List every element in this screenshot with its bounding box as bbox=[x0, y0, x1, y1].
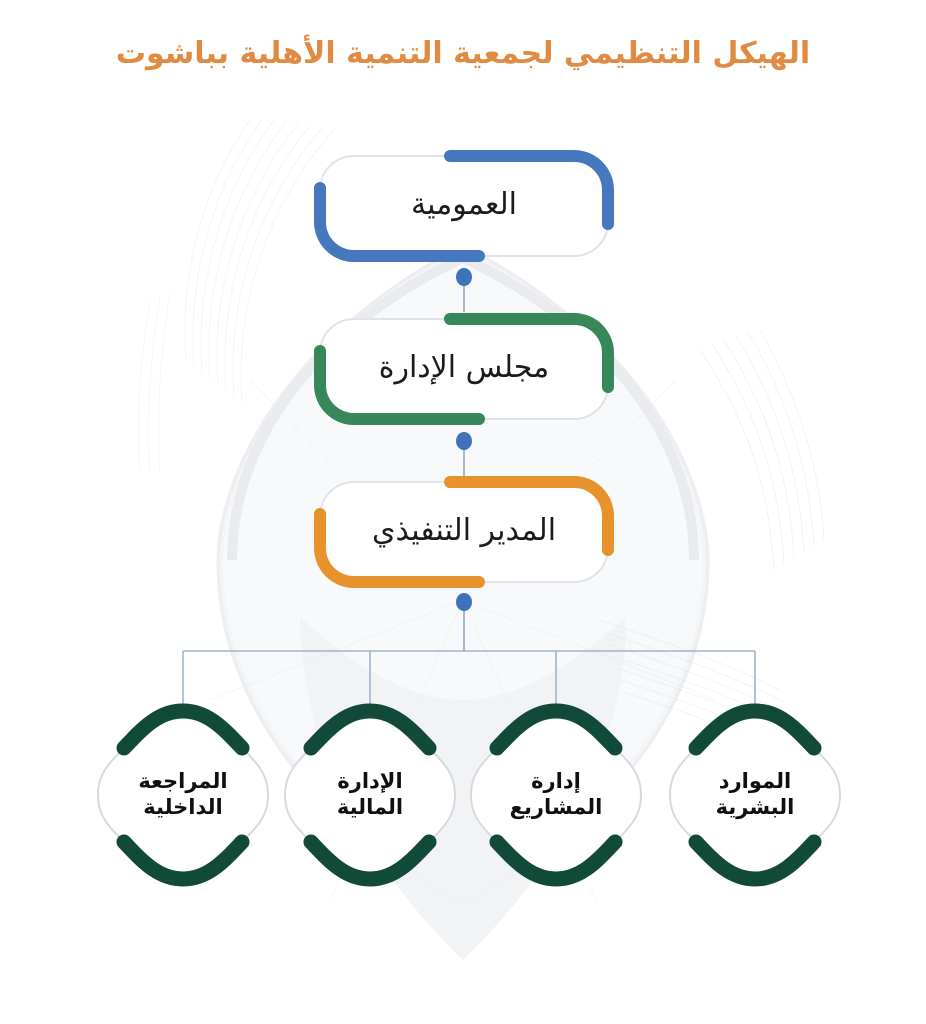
connector-board-to-director bbox=[456, 432, 472, 477]
human-resources-label-line1: الموارد bbox=[719, 769, 791, 793]
human-resources-label-line2: البشرية bbox=[716, 795, 795, 819]
internal-audit-label-line1: المراجعة bbox=[138, 769, 227, 793]
connector-assembly-to-board bbox=[456, 268, 472, 312]
financial-management-label-line1: الإدارة bbox=[337, 769, 402, 793]
human-resources-label: الموارد البشرية bbox=[692, 769, 818, 820]
node-human-resources[interactable]: الموارد البشرية bbox=[660, 700, 850, 890]
node-board-of-directors[interactable]: مجلس الإدارة bbox=[313, 313, 615, 425]
general-assembly-label: العمومية bbox=[411, 188, 517, 225]
node-financial-management[interactable]: الإدارة المالية bbox=[275, 700, 465, 890]
node-general-assembly[interactable]: العمومية bbox=[313, 150, 615, 262]
page-title: الهيكل التنظيمي لجمعية التنمية الأهلية ب… bbox=[0, 36, 926, 72]
financial-management-label: الإدارة المالية bbox=[307, 769, 433, 820]
internal-audit-label: المراجعة الداخلية bbox=[120, 769, 246, 820]
connector-director-to-bus bbox=[456, 593, 472, 651]
watermark-fan-right bbox=[600, 330, 824, 762]
watermark-fan-left bbox=[138, 120, 334, 474]
project-management-label-line1: إدارة bbox=[531, 769, 581, 793]
node-executive-director[interactable]: المدير التنفيذي bbox=[313, 476, 615, 588]
executive-director-label: المدير التنفيذي bbox=[372, 514, 556, 551]
project-management-label-line2: المشاريع bbox=[510, 795, 603, 819]
project-management-label: إدارة المشاريع bbox=[493, 769, 619, 820]
board-of-directors-label: مجلس الإدارة bbox=[379, 351, 550, 388]
internal-audit-label-line2: الداخلية bbox=[143, 795, 222, 819]
financial-management-label-line2: المالية bbox=[337, 795, 403, 819]
node-internal-audit[interactable]: المراجعة الداخلية bbox=[88, 700, 278, 890]
node-project-management[interactable]: إدارة المشاريع bbox=[461, 700, 651, 890]
